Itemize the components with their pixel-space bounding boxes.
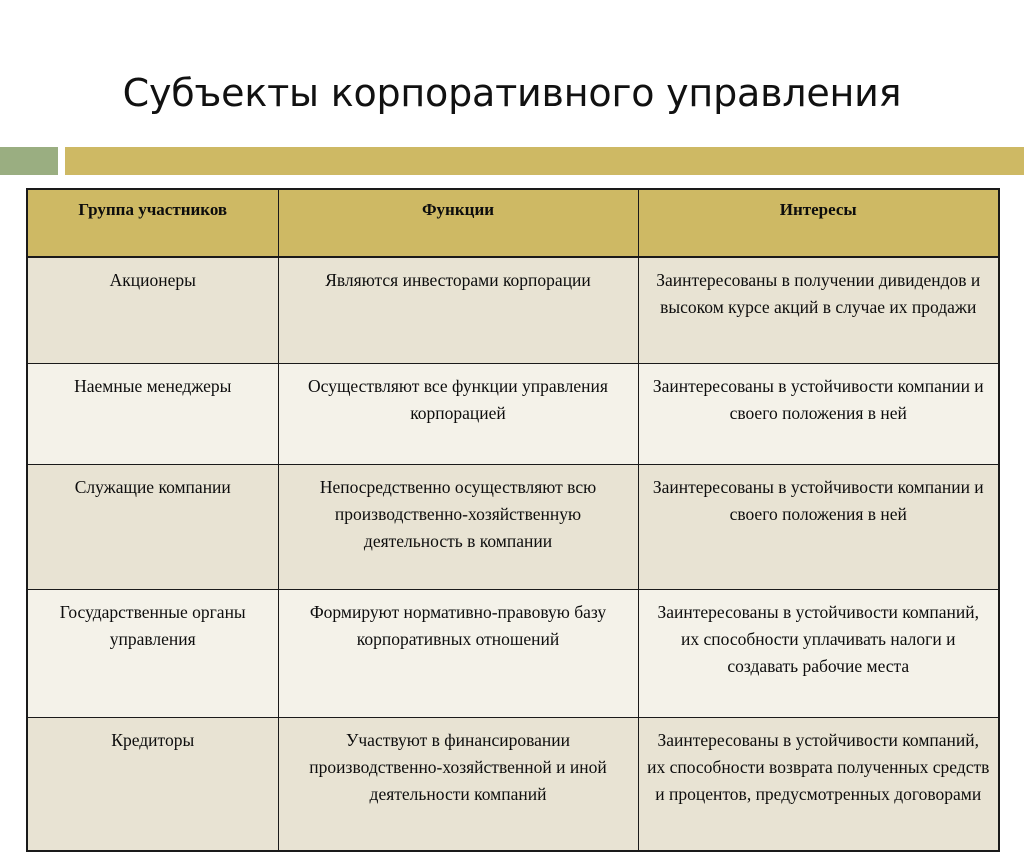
cell-interests-text: Заинтересованы в устойчивости компании и…: [647, 373, 991, 427]
cell-functions: Являются инвесторами корпорации: [278, 257, 638, 364]
accent-bar-gold: [65, 147, 1024, 175]
table-row: Наемные менеджеры Осуществляют все функц…: [27, 364, 999, 465]
cell-interests-text: Заинтересованы в устойчивости компании и…: [647, 474, 991, 528]
cell-interests-text: Заинтересованы в устойчивости компаний, …: [647, 727, 991, 808]
participants-table: Группа участников Функции Интересы Акцио…: [26, 188, 1000, 852]
cell-interests: Заинтересованы в устойчивости компаний, …: [638, 718, 999, 852]
page-title: Субъекты корпоративного управления: [0, 73, 1024, 115]
cell-group-text: Акционеры: [36, 267, 270, 294]
cell-group: Служащие компании: [27, 465, 278, 590]
column-header-interests: Интересы: [638, 189, 999, 257]
cell-group-text: Государственные органы управления: [36, 599, 270, 653]
cell-functions: Осуществляют все функции управления корп…: [278, 364, 638, 465]
table-row: Государственные органы управления Формир…: [27, 590, 999, 718]
table-row: Служащие компании Непосредственно осущес…: [27, 465, 999, 590]
accent-bar-green: [0, 147, 58, 175]
cell-group: Акционеры: [27, 257, 278, 364]
table-row: Кредиторы Участвуют в финансировании про…: [27, 718, 999, 852]
table-header-row: Группа участников Функции Интересы: [27, 189, 999, 257]
table-row: Акционеры Являются инвесторами корпораци…: [27, 257, 999, 364]
cell-functions: Участвуют в финансировании производствен…: [278, 718, 638, 852]
cell-interests: Заинтересованы в получении дивидендов и …: [638, 257, 999, 364]
cell-group: Наемные менеджеры: [27, 364, 278, 465]
column-header-group: Группа участников: [27, 189, 278, 257]
cell-group: Кредиторы: [27, 718, 278, 852]
table-body: Акционеры Являются инвесторами корпораци…: [27, 257, 999, 851]
table-header: Группа участников Функции Интересы: [27, 189, 999, 257]
cell-functions-text: Участвуют в финансировании производствен…: [287, 727, 630, 808]
cell-group-text: Наемные менеджеры: [36, 373, 270, 400]
cell-group-text: Служащие компании: [36, 474, 270, 501]
cell-functions: Формируют нормативно-правовую базу корпо…: [278, 590, 638, 718]
cell-functions-text: Непосредственно осуществляют всю произво…: [287, 474, 630, 555]
cell-functions: Непосредственно осуществляют всю произво…: [278, 465, 638, 590]
cell-interests: Заинтересованы в устойчивости компании и…: [638, 465, 999, 590]
cell-group: Государственные органы управления: [27, 590, 278, 718]
cell-functions-text: Являются инвесторами корпорации: [287, 267, 630, 294]
cell-functions-text: Формируют нормативно-правовую базу корпо…: [287, 599, 630, 653]
cell-interests: Заинтересованы в устойчивости компании и…: [638, 364, 999, 465]
accent-bar-group: [0, 147, 1024, 175]
cell-group-text: Кредиторы: [36, 727, 270, 754]
cell-functions-text: Осуществляют все функции управления корп…: [287, 373, 630, 427]
cell-interests: Заинтересованы в устойчивости компаний, …: [638, 590, 999, 718]
cell-interests-text: Заинтересованы в устойчивости компаний, …: [647, 599, 991, 680]
column-header-functions: Функции: [278, 189, 638, 257]
cell-interests-text: Заинтересованы в получении дивидендов и …: [647, 267, 991, 321]
